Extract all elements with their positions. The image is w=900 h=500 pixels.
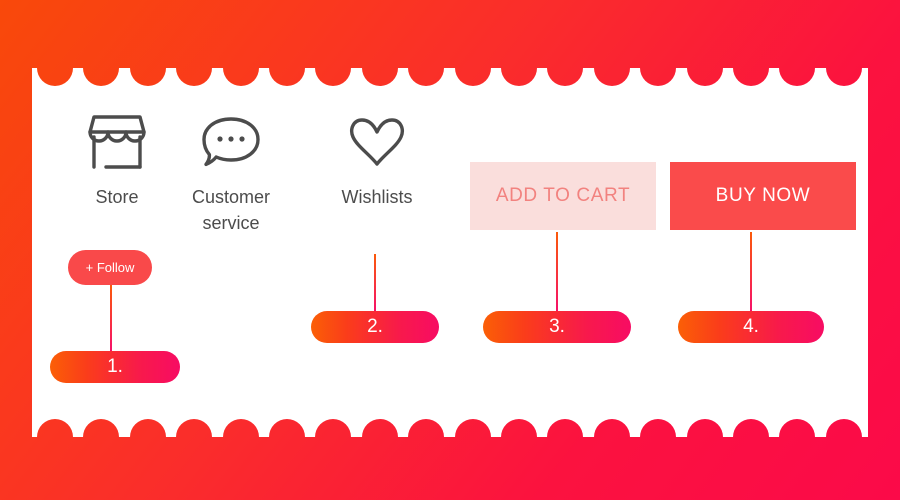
screenshot-root: Store Customer service Wishlists + Follo… [0,0,900,500]
action-customer-service[interactable]: Customer service [168,110,294,236]
callout-badge-4: 4. [678,311,824,343]
action-wishlists[interactable]: Wishlists [318,110,436,210]
callout-connector-4 [750,232,752,312]
heart-icon [318,110,436,174]
action-wishlists-label: Wishlists [318,184,436,210]
callout-badge-2: 2. [311,311,439,343]
action-store-label: Store [62,184,172,210]
callout-connector-2 [374,254,376,312]
buy-now-button[interactable]: BUY NOW [670,162,856,230]
callout-badge-3: 3. [483,311,631,343]
action-customer-service-label: Customer service [168,184,294,236]
action-store[interactable]: Store [62,110,172,210]
callout-badge-1: 1. [50,351,180,383]
add-to-cart-button[interactable]: ADD TO CART [470,162,656,230]
storefront-icon [62,110,172,174]
chat-bubble-icon [168,110,294,174]
follow-button[interactable]: + Follow [68,250,152,285]
callout-connector-3 [556,232,558,312]
callout-connector-1 [110,285,112,351]
